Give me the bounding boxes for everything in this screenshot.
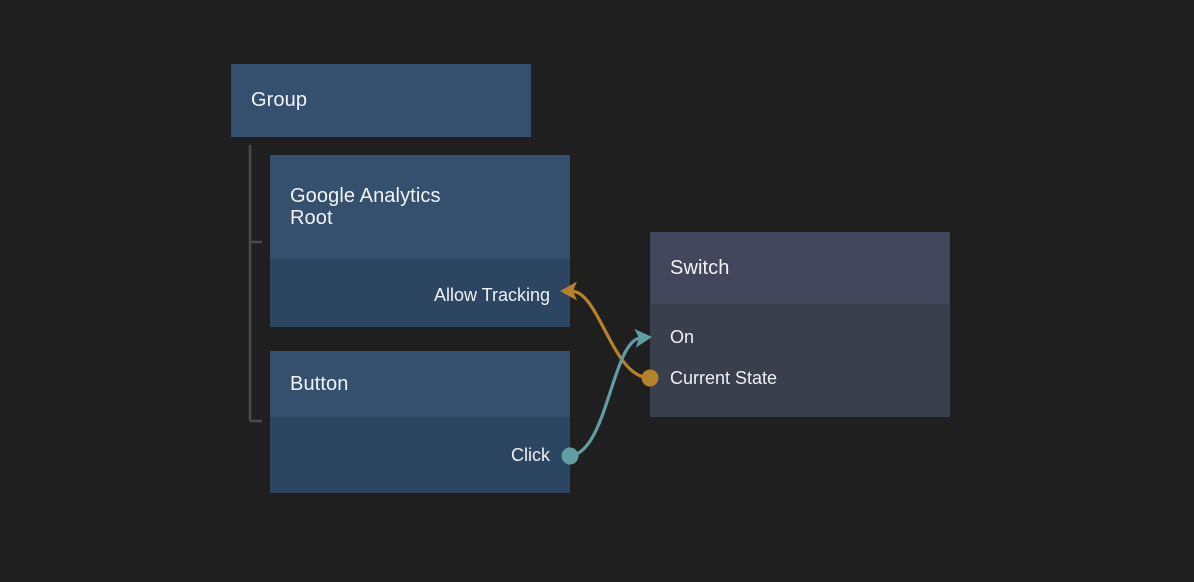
node-google-analytics-root-body: Allow Tracking <box>270 259 570 327</box>
node-group-header[interactable]: Group <box>231 64 531 137</box>
node-switch-body: On Current State <box>650 304 950 417</box>
node-switch-title: Switch <box>670 257 730 279</box>
node-button-title: Button <box>290 373 348 395</box>
node-google-analytics-root-header[interactable]: Google Analytics Root <box>270 155 570 259</box>
tree-connector <box>0 0 1194 582</box>
node-button-header[interactable]: Button <box>270 351 570 417</box>
edge-path <box>571 291 650 378</box>
node-group[interactable]: Group <box>231 64 531 137</box>
node-button[interactable]: Button Click <box>270 351 570 493</box>
node-button-body: Click <box>270 417 570 493</box>
edge-click-to-on[interactable] <box>562 328 653 465</box>
edge-current-state-to-allow-tracking[interactable] <box>560 282 659 387</box>
node-group-title: Group <box>251 89 307 111</box>
title-line-2: Root <box>290 207 333 229</box>
node-google-analytics-root[interactable]: Google Analytics Root Allow Tracking <box>270 155 570 327</box>
port-allow-tracking[interactable]: Allow Tracking <box>434 283 550 307</box>
node-graph-canvas: Group Google Analytics Root Allow Tracki… <box>0 0 1194 582</box>
port-on[interactable]: On <box>670 325 694 349</box>
edge-path <box>570 338 641 456</box>
port-current-state[interactable]: Current State <box>670 366 777 390</box>
tree-connector-lines <box>250 145 262 421</box>
port-on-label: On <box>670 327 694 348</box>
connection-edges <box>0 0 1194 582</box>
node-switch[interactable]: Switch On Current State <box>650 232 950 417</box>
port-current-state-label: Current State <box>670 368 777 389</box>
node-switch-header[interactable]: Switch <box>650 232 950 304</box>
port-click-label: Click <box>511 445 550 466</box>
title-line-1: Google Analytics <box>290 185 441 207</box>
port-click[interactable]: Click <box>511 443 550 467</box>
port-allow-tracking-label: Allow Tracking <box>434 285 550 306</box>
node-google-analytics-root-title: Google Analytics Root <box>290 185 441 230</box>
